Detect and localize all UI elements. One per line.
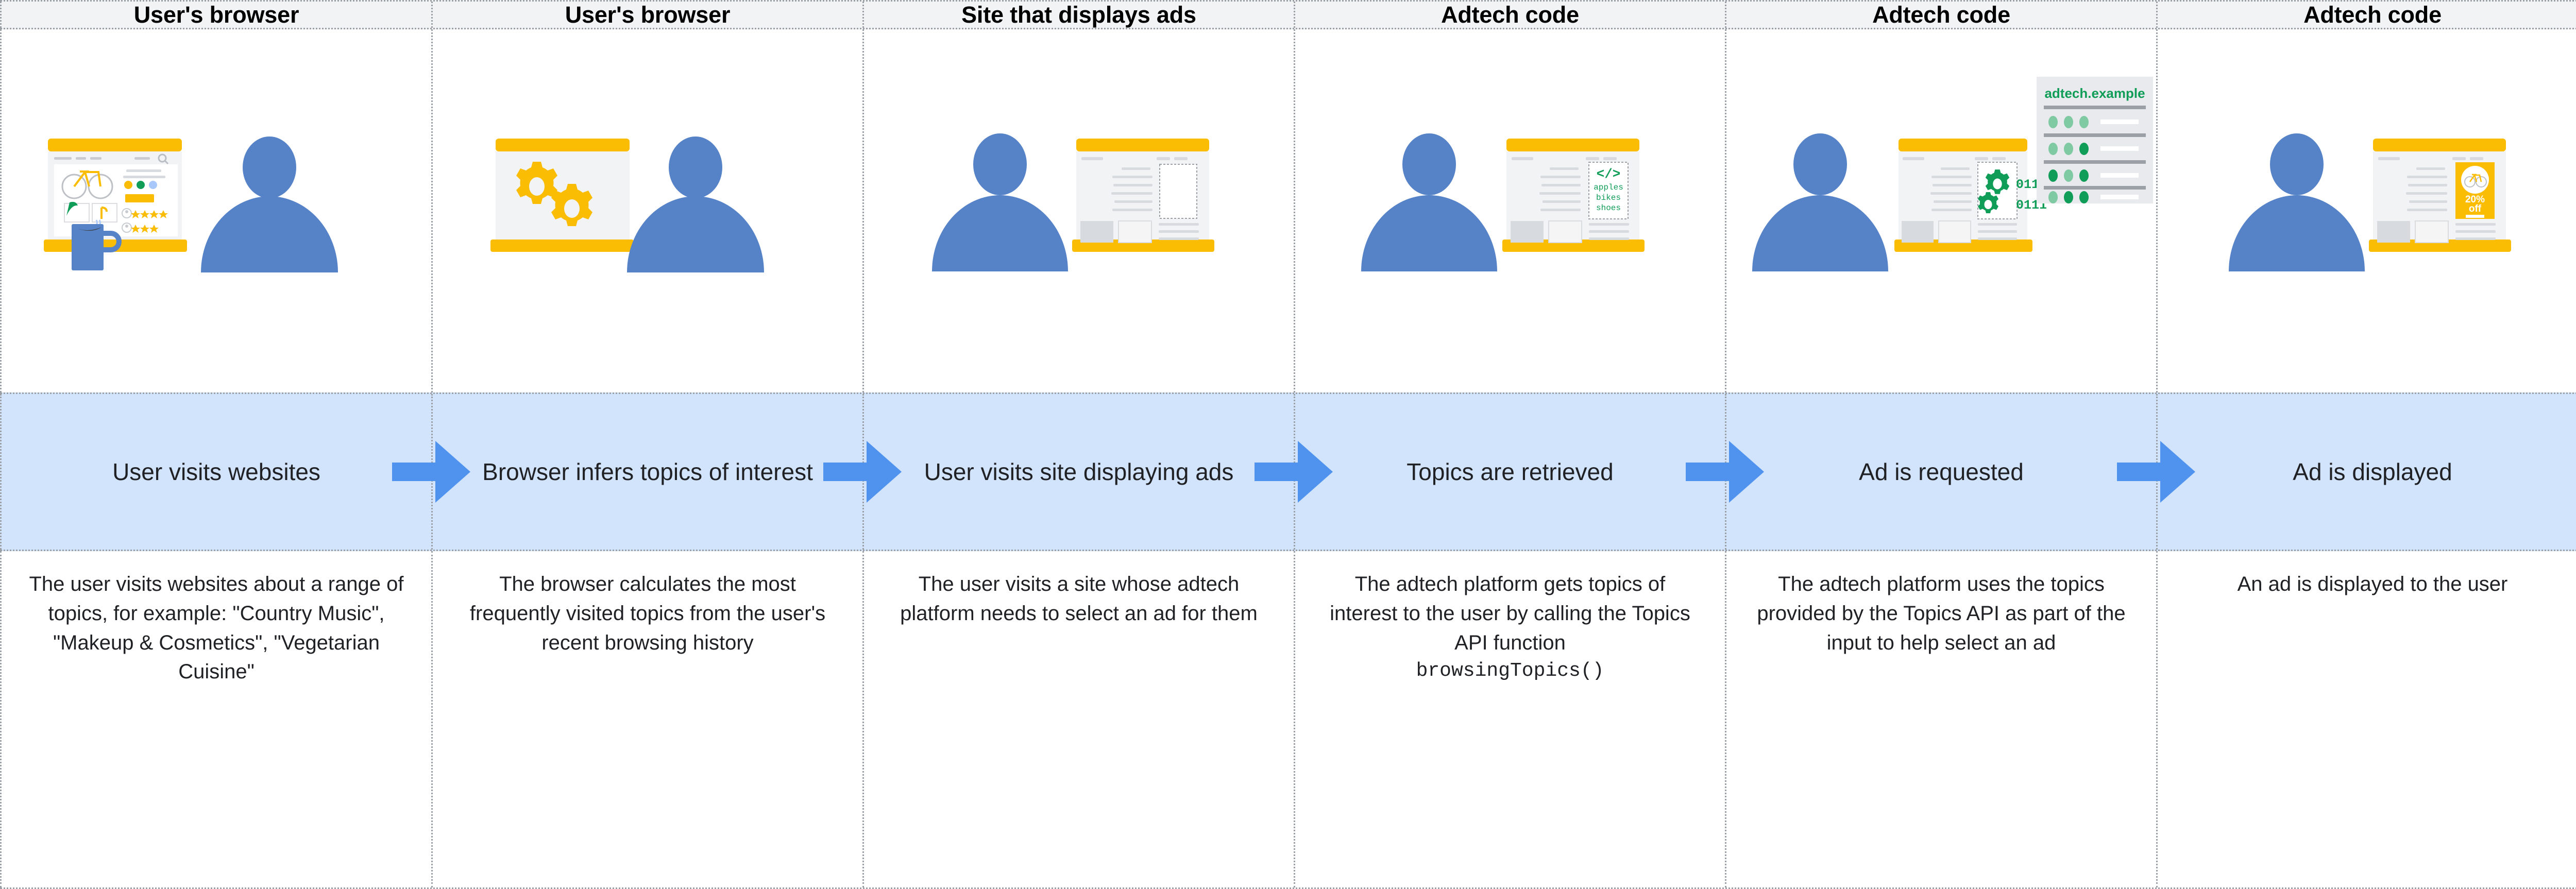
column-header-cell-1: User's browser (0, 2, 431, 28)
topic-apples: apples (1594, 183, 1623, 192)
illustration-cell-1 (0, 29, 431, 392)
topic-bikes: bikes (1596, 193, 1621, 202)
person-at-browser-with-gears-icon (433, 29, 862, 392)
description-text: The adtech platform uses the topics prov… (1753, 570, 2129, 657)
illustration-cell-6: 20% off (2156, 29, 2576, 392)
caption-label: Ad is displayed (2293, 455, 2452, 489)
column-header-cell-5: Adtech code (1725, 2, 2156, 28)
description-cell-1: The user visits websites about a range o… (0, 551, 431, 887)
caption-cell-5: Ad is requested (1725, 394, 2156, 550)
illustration-row: </> apples bikes shoes (0, 29, 2576, 392)
caption-cell-2: Browser infers topics of interest (431, 394, 862, 550)
topic-shoes: shoes (1596, 203, 1621, 213)
caption-label: Ad is requested (1859, 455, 2024, 489)
column-header-cell-4: Adtech code (1294, 2, 1725, 28)
person-at-browser-with-bicycle-ad-icon: 20% off (2158, 29, 2576, 392)
caption-cell-6: Ad is displayed (2156, 394, 2576, 550)
column-title: User's browser (134, 2, 299, 28)
description-cell-4: The adtech platform gets topics of inter… (1294, 551, 1725, 887)
description-code: browsingTopics() (1322, 657, 1698, 685)
svg-text:</>: </> (1597, 166, 1621, 182)
adtech-server-title: adtech.example (2044, 86, 2145, 101)
column-header-cell-2: User's browser (431, 2, 862, 28)
description-cell-3: The user visits a site whose adtech plat… (862, 551, 1294, 887)
topics-api-flow-diagram: User's browser User's browser Site that … (0, 0, 2576, 889)
description-text: The browser calculates the most frequent… (460, 570, 836, 657)
person-at-browser-with-code-topics-ad-slot-icon: </> apples bikes shoes (1295, 29, 1725, 392)
flow-caption-band: User visits websites Browser infers topi… (0, 392, 2576, 551)
column-title: Adtech code (2303, 2, 2442, 28)
illustration-cell-5: 0110 0111 adtech.example (1725, 29, 2156, 392)
caption-label: Browser infers topics of interest (482, 455, 813, 489)
description-cell-5: The adtech platform uses the topics prov… (1725, 551, 2156, 887)
column-title: Adtech code (1441, 2, 1579, 28)
caption-cell-3: User visits site displaying ads (862, 394, 1294, 550)
caption-cell-1: User visits websites (0, 394, 431, 550)
ad-discount-line2: off (2469, 203, 2482, 214)
description-cell-2: The browser calculates the most frequent… (431, 551, 862, 887)
column-header-row: User's browser User's browser Site that … (0, 0, 2576, 29)
column-header-cell-3: Site that displays ads (862, 2, 1294, 28)
column-title: Site that displays ads (961, 2, 1196, 28)
description-cell-6: An ad is displayed to the user (2156, 551, 2576, 887)
description-text: The user visits websites about a range o… (28, 570, 404, 687)
illustration-cell-3 (862, 29, 1294, 392)
caption-cell-4: Topics are retrieved (1294, 394, 1725, 550)
column-header-cell-6: Adtech code (2156, 2, 2576, 28)
illustration-cell-2 (431, 29, 862, 392)
column-title: User's browser (565, 2, 731, 28)
person-at-browser-with-gears-and-adtech-server-icon: 0110 0111 adtech.example (1726, 29, 2156, 392)
description-text: The user visits a site whose adtech plat… (891, 570, 1267, 628)
person-at-browser-shopping-bicycle-icon (2, 29, 431, 392)
caption-label: User visits site displaying ads (924, 455, 1234, 489)
caption-label: User visits websites (112, 455, 320, 489)
person-at-browser-with-empty-ad-slot-icon (864, 29, 1294, 392)
description-text: An ad is displayed to the user (2184, 570, 2561, 599)
caption-label: Topics are retrieved (1406, 455, 1613, 489)
illustration-cell-4: </> apples bikes shoes (1294, 29, 1725, 392)
column-title: Adtech code (1872, 2, 2010, 28)
description-row: The user visits websites about a range o… (0, 551, 2576, 889)
description-text: The adtech platform gets topics of inter… (1322, 570, 1698, 657)
